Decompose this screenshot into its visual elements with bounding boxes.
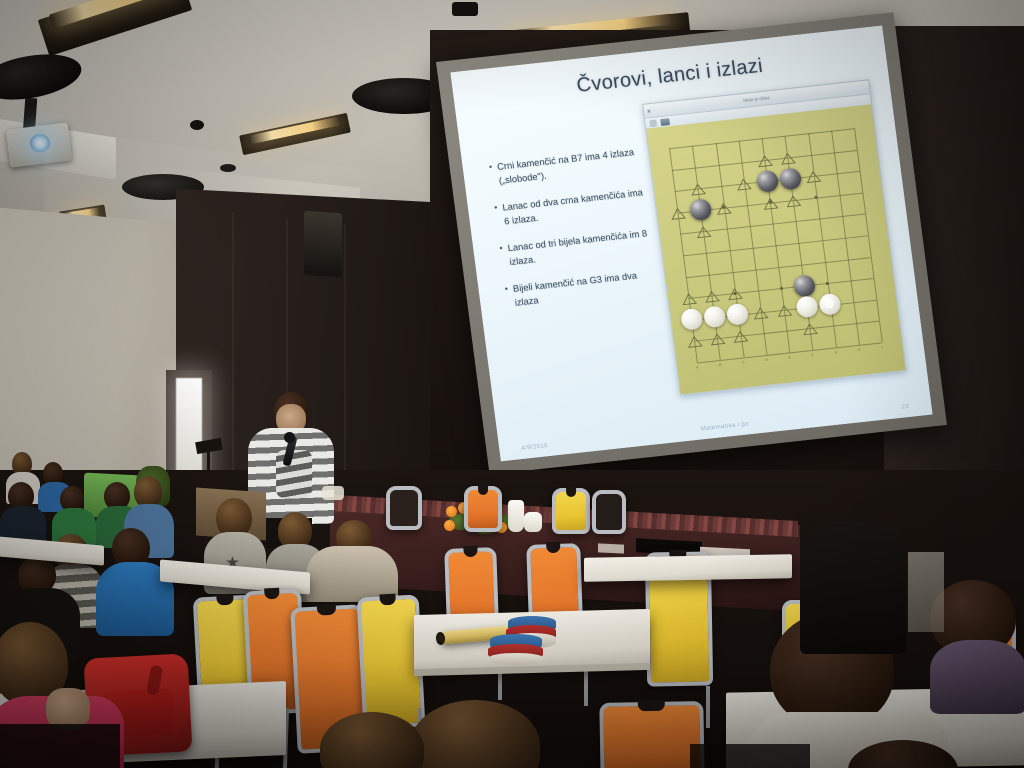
board-column-label: J [881, 345, 883, 349]
standing-figure [800, 522, 906, 654]
white-stone [818, 293, 842, 316]
chair[interactable] [464, 486, 502, 532]
audience-member [306, 520, 398, 598]
liberty-triangle-icon [680, 292, 696, 306]
window-icon: ▣ [647, 108, 651, 113]
presentation-slide: Čvorovi, lanci i izlazi • Crni kamenčić … [450, 26, 932, 462]
list-item: • Bijeli kamenčić na G3 ima dva izlaza [504, 267, 657, 311]
list-item: • Lanac od tri bijela kamenčića im 8 izl… [499, 226, 652, 270]
board-column-label: F [811, 353, 814, 357]
go-board: ABCDEFGHJ [646, 104, 905, 394]
window-title: Mala je doba [743, 95, 770, 103]
go-application-window: ▣ Mala je doba ABCDEFGHJ [642, 79, 907, 395]
liberty-triangle-icon [709, 333, 725, 347]
bullet-text: Crni kamenčić na B7 ima 4 izlaza („slobo… [496, 145, 641, 188]
slide-date: 4/9/2016 [521, 443, 548, 452]
page-icon [649, 120, 657, 128]
black-stone [778, 167, 802, 190]
stone-marker-icon [825, 300, 834, 309]
presenter-arm [276, 450, 312, 498]
floor-shadow [0, 660, 1024, 768]
bullet-text: Bijeli kamenčić na G3 ima dva izlaza [512, 267, 657, 310]
bullet-dot-icon: • [488, 161, 495, 189]
list-item: • Crni kamenčić na B7 ima 4 izlaza („slo… [488, 145, 641, 189]
table [584, 554, 792, 582]
bullet-dot-icon: • [499, 242, 506, 270]
ceiling-fixture [452, 2, 478, 16]
liberty-triangle-icon [779, 151, 795, 165]
white-stone [703, 306, 727, 329]
background-object [908, 552, 944, 632]
white-stone [726, 303, 750, 326]
board-star-point [779, 287, 782, 290]
board-column-label: D [765, 358, 768, 362]
black-stone [689, 199, 713, 222]
slide-bullet-list: • Crni kamenčić na B7 ima 4 izlaza („slo… [488, 145, 658, 324]
go-grid: ABCDEFGHJ [669, 128, 882, 362]
liberty-triangle-icon [690, 183, 706, 197]
board-column-label: H [858, 348, 861, 352]
liberty-triangle-icon [805, 170, 821, 184]
board-column-label: E [788, 355, 791, 359]
ceiling-fixture [190, 120, 204, 130]
paper-in-hand [322, 486, 344, 500]
liberty-triangle-icon [727, 287, 743, 301]
black-stone [792, 274, 816, 297]
chair[interactable] [552, 488, 590, 534]
slide-number: 22 [902, 404, 910, 411]
liberty-triangle-icon [776, 304, 792, 318]
slide-subject: Matematika i go [701, 421, 750, 432]
liberty-triangle-icon [669, 207, 685, 221]
liberty-triangle-icon [785, 194, 801, 208]
audience-member [0, 482, 46, 540]
board-column-label: B [719, 363, 722, 367]
lecture-hall-photo: Čvorovi, lanci i izlazi • Crni kamenčić … [0, 0, 1024, 768]
wall-panel-seam [232, 212, 234, 512]
board-column-label: A [696, 365, 699, 369]
projection-screen: Čvorovi, lanci i izlazi • Crni kamenčić … [436, 12, 948, 478]
board-gridline [669, 148, 698, 362]
list-item: • Lanac od dva crna kamenčića ima 6 izla… [493, 185, 646, 229]
water-pitcher [508, 500, 524, 532]
bullet-dot-icon: • [504, 283, 511, 311]
liberty-triangle-icon [732, 330, 748, 344]
bullet-text: Lanac od dva crna kamenčića ima 6 izlaza… [502, 185, 647, 228]
liberty-triangle-icon [736, 178, 752, 192]
liberty-triangle-icon [802, 323, 818, 337]
board-star-point [826, 282, 829, 285]
board-gridline [854, 128, 883, 342]
bullet-dot-icon: • [493, 201, 500, 229]
board-column-label: G [834, 350, 837, 354]
stone-icon [660, 118, 670, 126]
black-stone [755, 170, 779, 193]
liberty-triangle-icon [695, 226, 711, 240]
wall-speaker [304, 211, 342, 278]
liberty-triangle-icon [704, 290, 720, 304]
bullet-text: Lanac od tri bijela kamenčića im 8 izlaz… [507, 226, 652, 269]
liberty-triangle-icon [686, 335, 702, 349]
liberty-triangle-icon [716, 202, 732, 216]
white-stone [680, 308, 704, 331]
bowl [524, 512, 542, 532]
liberty-triangle-icon [756, 154, 772, 168]
microphone-head-icon [284, 432, 295, 443]
chair[interactable] [592, 490, 626, 534]
board-column-label: C [742, 360, 745, 364]
screen-surface: Čvorovi, lanci i izlazi • Crni kamenčić … [450, 26, 932, 462]
liberty-triangle-icon [762, 197, 778, 211]
white-stone [795, 296, 819, 319]
liberty-triangle-icon [753, 306, 769, 320]
papers [598, 543, 624, 553]
